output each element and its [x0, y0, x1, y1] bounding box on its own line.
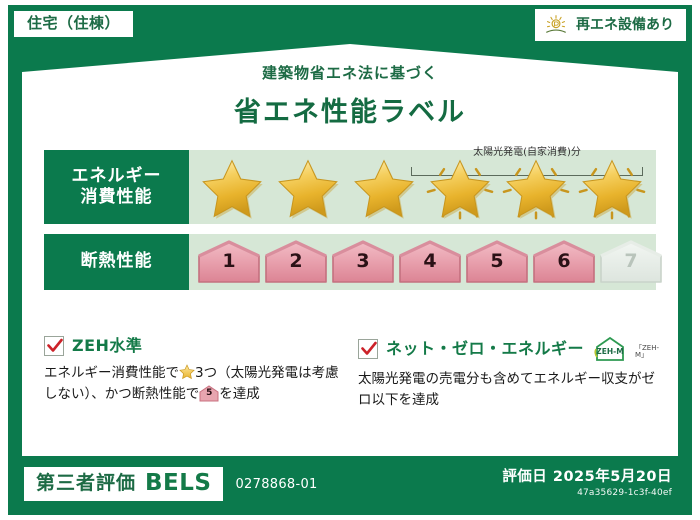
insulation-chip-active: 1	[197, 240, 261, 284]
energy-label-line1: エネルギー	[72, 166, 162, 187]
criteria-section: ZEH水準 エネルギー消費性能で3つ（太陽光発電は考慮しない）、かつ断熱性能で5…	[44, 336, 660, 411]
insulation-performance-row: 断熱性能 1234567	[44, 234, 656, 290]
inline-grade-chip: 5	[199, 385, 219, 402]
insulation-chip-active: 4	[398, 240, 462, 284]
check-icon	[46, 337, 64, 355]
star-filled	[271, 156, 345, 222]
evaluation-hash: 47a35629-1c3f-40ef	[502, 488, 672, 498]
sun-solar-icon	[543, 14, 569, 36]
inline-chip-value: 5	[199, 389, 219, 398]
energy-performance-row: エネルギー 消費性能 太陽光発電(自家消費)分	[44, 150, 656, 224]
insulation-chip-active: 5	[465, 240, 529, 284]
label-footer: 第三者評価 BELS 0278868-01 評価日 2025年5月20日 47a…	[22, 460, 678, 508]
star-solar	[499, 156, 573, 222]
zeh-desc-part1: エネルギー消費性能で	[44, 365, 179, 381]
energy-label-line2: 消費性能	[81, 187, 153, 208]
energy-row-body: 太陽光発電(自家消費)分	[189, 150, 656, 224]
checkbox-zeh[interactable]	[44, 336, 64, 356]
insulation-chip-inactive: 7	[599, 240, 663, 284]
criterion-net-zero-title: ネット・ゼロ・エネルギー	[386, 341, 584, 357]
insulation-chip-active: 3	[331, 240, 395, 284]
star-solar	[575, 156, 649, 222]
insulation-row-body: 1234567	[189, 234, 663, 290]
energy-row-label: エネルギー 消費性能	[44, 150, 189, 224]
performance-rows: エネルギー 消費性能 太陽光発電(自家消費)分 断熱性能 1234567	[44, 150, 656, 300]
criterion-net-zero: ネット・ゼロ・エネルギー ZEH-M 「ZEH-M」 太陽光発電の売電分も含めて…	[358, 336, 658, 411]
zeh-m-logo-caption: 「ZEH-M」	[635, 345, 659, 359]
star-filled	[195, 156, 269, 222]
house-type-tag: 住宅（住棟）	[14, 11, 133, 37]
bels-jp-label: 第三者評価	[36, 474, 136, 493]
criterion-net-zero-description: 太陽光発電の売電分も含めてエネルギー収支がゼロ以下を達成	[358, 369, 658, 411]
bels-en-label: BELS	[145, 472, 211, 495]
insulation-chip-active: 6	[532, 240, 596, 284]
evaluation-date: 評価日 2025年5月20日	[502, 470, 672, 486]
insulation-grade-scale: 1234567	[195, 240, 663, 284]
checkbox-net-zero[interactable]	[358, 339, 378, 359]
insulation-row-label: 断熱性能	[44, 234, 189, 290]
svg-text:ZEH-M: ZEH-M	[596, 347, 623, 356]
energy-performance-label: 住宅（住棟） 再エネ設備あり 建築物省エネ法に基づく 省エネ性能ラベル	[0, 0, 700, 520]
renewable-equipment-badge: 再エネ設備あり	[535, 9, 686, 41]
insulation-chip-active: 2	[264, 240, 328, 284]
renewable-badge-label: 再エネ設備あり	[576, 18, 674, 32]
star-solar	[423, 156, 497, 222]
criterion-net-zero-header: ネット・ゼロ・エネルギー ZEH-M 「ZEH-M」	[358, 336, 658, 362]
evaluation-info: 評価日 2025年5月20日 47a35629-1c3f-40ef	[502, 470, 678, 498]
insulation-label: 断熱性能	[81, 251, 153, 272]
bels-number: 0278868-01	[235, 477, 317, 492]
inline-star-icon	[179, 364, 195, 380]
energy-star-rating	[195, 156, 649, 222]
criterion-zeh-description: エネルギー消費性能で3つ（太陽光発電は考慮しない）、かつ断熱性能で5を達成	[44, 363, 344, 405]
criterion-zeh: ZEH水準 エネルギー消費性能で3つ（太陽光発電は考慮しない）、かつ断熱性能で5…	[44, 336, 344, 411]
criterion-zeh-title: ZEH水準	[72, 338, 142, 354]
zeh-desc-part3: を達成	[219, 386, 260, 402]
zeh-m-house-logo: ZEH-M	[593, 336, 627, 362]
evaluation-date-label: 評価日	[502, 469, 547, 485]
evaluation-date-value: 2025年5月20日	[553, 469, 672, 485]
star-filled	[347, 156, 421, 222]
criterion-zeh-header: ZEH水準	[44, 336, 344, 356]
bels-certification-mark: 第三者評価 BELS	[24, 467, 223, 501]
check-icon	[360, 340, 378, 358]
